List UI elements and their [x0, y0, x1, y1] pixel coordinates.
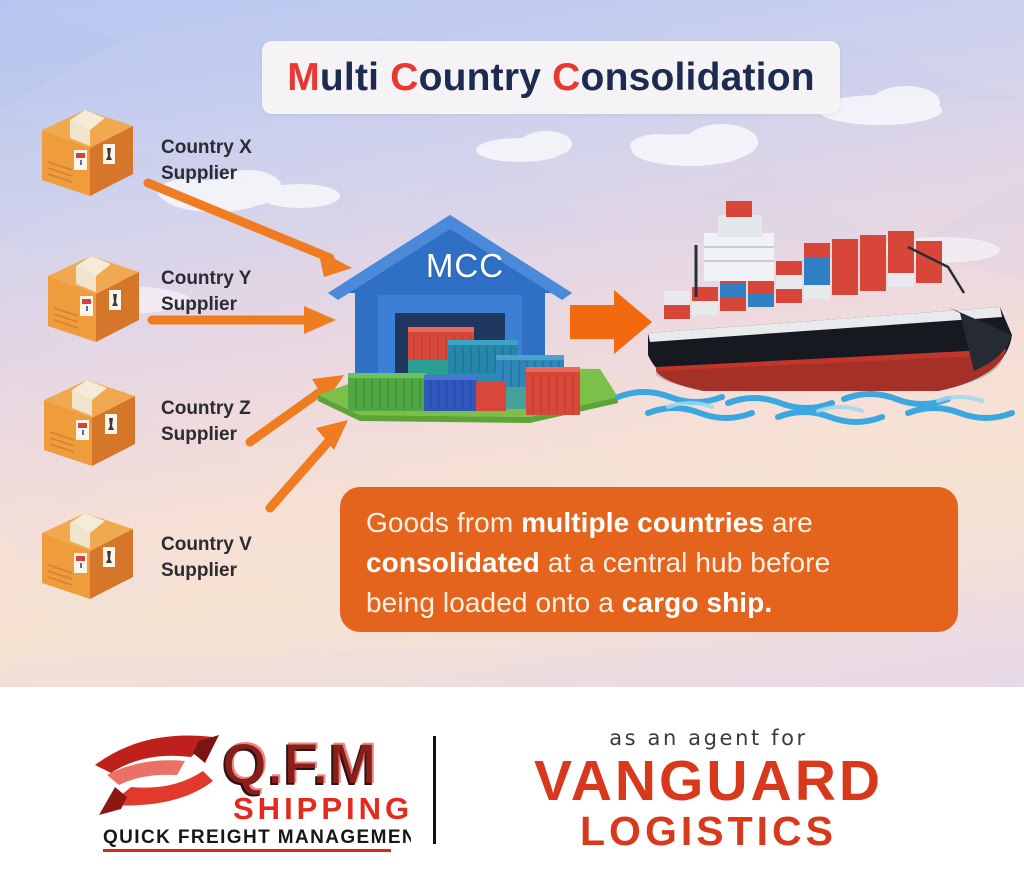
supplier-4-role: Supplier [161, 558, 252, 584]
supplier-2-country: Country Y [161, 266, 251, 292]
illustration-scene: Multi Country Consolidation [0, 0, 1024, 687]
infographic-root: Multi Country Consolidation [0, 0, 1024, 893]
mcc-warehouse: MCC [300, 205, 630, 430]
caption-emphasis-cargo-ship: cargo ship. [622, 587, 772, 618]
qfm-shipping-word: SHIPPING [233, 791, 411, 826]
caption-emphasis-consolidated: consolidated [366, 547, 540, 578]
caption-line2-b: at a central hub before [540, 547, 830, 578]
supplier-label-1: Country X Supplier [161, 135, 252, 187]
caption-emphasis-countries: multiple countries [521, 507, 764, 538]
vanguard-logistics-word: LOGISTICS [474, 809, 944, 854]
caption-box: Goods from multiple countries are consol… [340, 487, 958, 632]
supplier-3-role: Supplier [161, 422, 251, 448]
package-box-3 [32, 372, 142, 472]
supplier-2-role: Supplier [161, 292, 251, 318]
logo-divider [433, 736, 436, 844]
qfm-logo-graphic: Q.F.M Q.F.M SHIPPING QUICK FREIGHT MANAG… [81, 723, 411, 858]
vanguard-wordmark: VANGUARD [474, 754, 944, 810]
supplier-label-4: Country V Supplier [161, 532, 252, 584]
caption-line3-a: being loaded onto a [366, 587, 622, 618]
qfm-swoosh-icon [95, 735, 219, 815]
supplier-3-country: Country Z [161, 396, 251, 422]
caption-line1-c: are [764, 507, 813, 538]
caption-line1-a: Goods from [366, 507, 521, 538]
supplier-1-country: Country X [161, 135, 252, 161]
cargo-ship [608, 185, 1024, 430]
vanguard-logo: as an agent for VANGUARD LOGISTICS [474, 726, 944, 855]
caption-text: Goods from multiple countries are consol… [366, 503, 932, 623]
footer-brand-bar: Q.F.M Q.F.M SHIPPING QUICK FREIGHT MANAG… [0, 687, 1024, 893]
package-box-2 [36, 248, 146, 348]
qfm-tagline: QUICK FREIGHT MANAGEMENT [103, 827, 411, 848]
qfm-wordmark-shadow: Q.F.M [223, 731, 378, 796]
supplier-4-country: Country V [161, 532, 252, 558]
mcc-hub-label: MCC [300, 247, 630, 285]
package-box-4 [30, 505, 140, 605]
qfm-tagline-underline [103, 849, 391, 852]
supplier-label-3: Country Z Supplier [161, 396, 251, 448]
package-box-1 [30, 102, 140, 202]
agent-for-line: as an agent for [474, 726, 944, 750]
qfm-logo: Q.F.M Q.F.M SHIPPING QUICK FREIGHT MANAG… [81, 723, 411, 858]
supplier-label-2: Country Y Supplier [161, 266, 251, 318]
arrow-supplier-4 [270, 420, 348, 508]
supplier-1-role: Supplier [161, 161, 252, 187]
